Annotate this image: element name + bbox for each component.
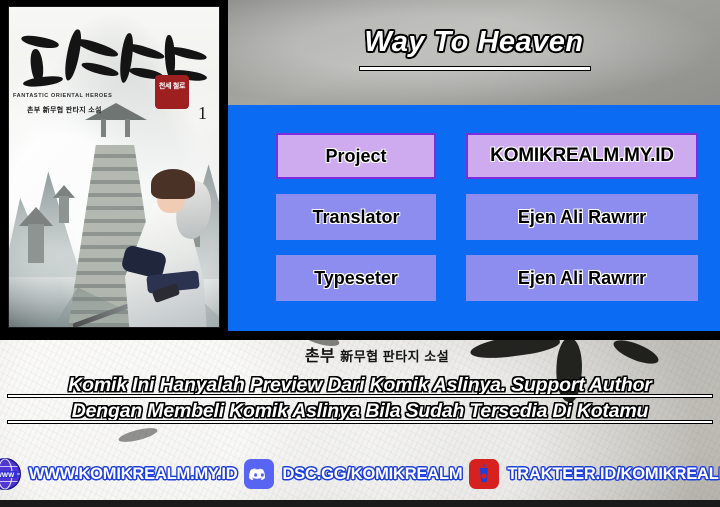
korean-banner-bold: 촌부 bbox=[305, 348, 335, 365]
credits-row-translator: Translator Ejen Ali Rawrrr bbox=[228, 191, 720, 243]
credits-panel: Project KOMIKREALM.MY.ID Translator Ejen… bbox=[228, 105, 720, 331]
header-area: Way To Heaven bbox=[228, 0, 720, 110]
page-title: Way To Heaven bbox=[228, 26, 720, 59]
credits-value-typesetter: Ejen Ali Rawrrr bbox=[466, 255, 698, 301]
title-underline bbox=[360, 67, 590, 70]
credits-label-project: Project bbox=[276, 133, 436, 179]
footer-link-website-label: WWW.KOMIKREALM.MY.ID bbox=[29, 465, 238, 484]
credits-row-project: Project KOMIKREALM.MY.ID bbox=[228, 130, 720, 182]
footer-link-discord[interactable]: DSC.GG/KOMIKREALM bbox=[243, 458, 462, 490]
comic-cover-image: 천세 철로 FANTASTIC ORIENTAL HEROES 촌부 新무협 판… bbox=[8, 6, 220, 328]
footer-links: WWW WWW.KOMIKREALM.MY.ID DSC.GG/KOMIKREA… bbox=[0, 452, 720, 496]
credits-label-translator: Translator bbox=[276, 194, 436, 240]
credits-value-project[interactable]: KOMIKREALM.MY.ID bbox=[466, 133, 698, 179]
preview-notice: Komik Ini Hanyalah Preview Dari Komik As… bbox=[0, 372, 720, 424]
credits-row-typesetter: Typeseter Ejen Ali Rawrrr bbox=[228, 252, 720, 304]
footer-link-trakteer-label: TRAKTEER.ID/KOMIKREALM bbox=[507, 465, 720, 484]
preview-notice-line-1: Komik Ini Hanyalah Preview Dari Komik As… bbox=[0, 372, 720, 398]
cover-seal-stamp: 천세 철로 bbox=[155, 75, 189, 109]
cover-pagoda bbox=[53, 185, 75, 223]
footer-link-discord-label: DSC.GG/KOMIKREALM bbox=[282, 465, 462, 484]
credits-label-typesetter: Typeseter bbox=[276, 255, 436, 301]
footer-link-trakteer[interactable]: TRAKTEER.ID/KOMIKREALM bbox=[468, 458, 720, 490]
footer-link-website[interactable]: WWW WWW.KOMIKREALM.MY.ID bbox=[0, 457, 237, 491]
band-divider bbox=[0, 330, 720, 340]
svg-text:WWW: WWW bbox=[0, 472, 15, 479]
cover-pagoda bbox=[19, 207, 53, 263]
credits-value-translator: Ejen Ali Rawrrr bbox=[466, 194, 698, 240]
comic-credits-page: Way To Heaven bbox=[0, 0, 720, 507]
preview-notice-line-2: Dengan Membeli Komik Aslinya Bila Sudah … bbox=[0, 398, 720, 424]
discord-icon bbox=[243, 458, 275, 490]
bottom-border bbox=[0, 500, 720, 507]
globe-www-icon: WWW bbox=[0, 457, 22, 491]
cover-swordsman-figure bbox=[117, 165, 220, 328]
cover-korean-subtitle: 촌부 新무협 판타지 소설 bbox=[27, 105, 102, 115]
korean-banner: 촌부 新무협 판타지 소설 bbox=[0, 342, 720, 366]
korean-banner-rest: 新무협 판타지 소설 bbox=[340, 349, 449, 364]
cover-volume-number: 1 bbox=[198, 103, 207, 124]
cover-english-tagline: FANTASTIC ORIENTAL HEROES bbox=[13, 93, 112, 99]
trakteer-icon bbox=[468, 458, 500, 490]
